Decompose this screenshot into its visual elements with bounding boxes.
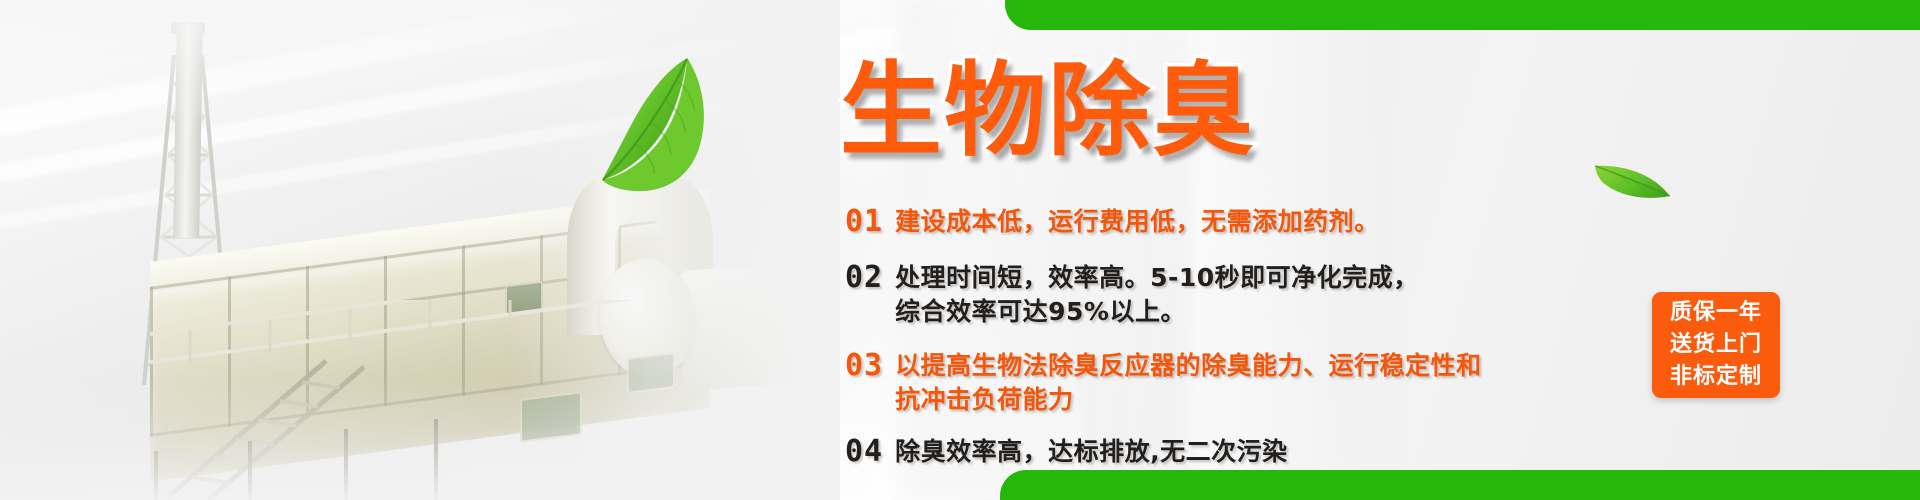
- feature-number: 04: [845, 435, 883, 469]
- feature-item-01: 01 建设成本低，运行费用低，无需添加药剂。: [845, 205, 1855, 239]
- feature-number: 03: [845, 349, 883, 383]
- feature-text-line-1: 处理时间短，效率高。5-10秒即可净化完成，: [895, 261, 1419, 295]
- feature-number: 02: [845, 261, 883, 295]
- feature-text-line-1: 以提高生物法除臭反应器的除臭能力、运行稳定性和: [895, 349, 1482, 383]
- feature-text: 除臭效率高，达标排放,无二次污染: [895, 435, 1288, 469]
- leaf-icon: [1592, 158, 1672, 204]
- badge-line-warranty: 质保一年: [1670, 297, 1762, 329]
- feature-text-line-2: 抗冲击负荷能力: [895, 383, 1482, 417]
- green-accent-bar-top: [1005, 0, 1920, 30]
- badge-line-delivery: 送货上门: [1670, 329, 1762, 361]
- feature-text: 建设成本低，运行费用低，无需添加药剂。: [895, 205, 1380, 239]
- service-guarantee-badge: 质保一年 送货上门 非标定制: [1652, 292, 1780, 398]
- feature-item-04: 04 除臭效率高，达标排放,无二次污染: [845, 435, 1855, 469]
- page-title: 生物除臭: [840, 58, 1256, 165]
- feature-number: 01: [845, 205, 883, 239]
- promo-banner: 生物除臭 01 建设成本低，运行费用低，无需添加药剂。 02 处理时间短，效率高…: [0, 0, 1920, 500]
- badge-line-custom: 非标定制: [1670, 361, 1762, 393]
- feature-text-line-2: 综合效率可达95%以上。: [895, 295, 1419, 329]
